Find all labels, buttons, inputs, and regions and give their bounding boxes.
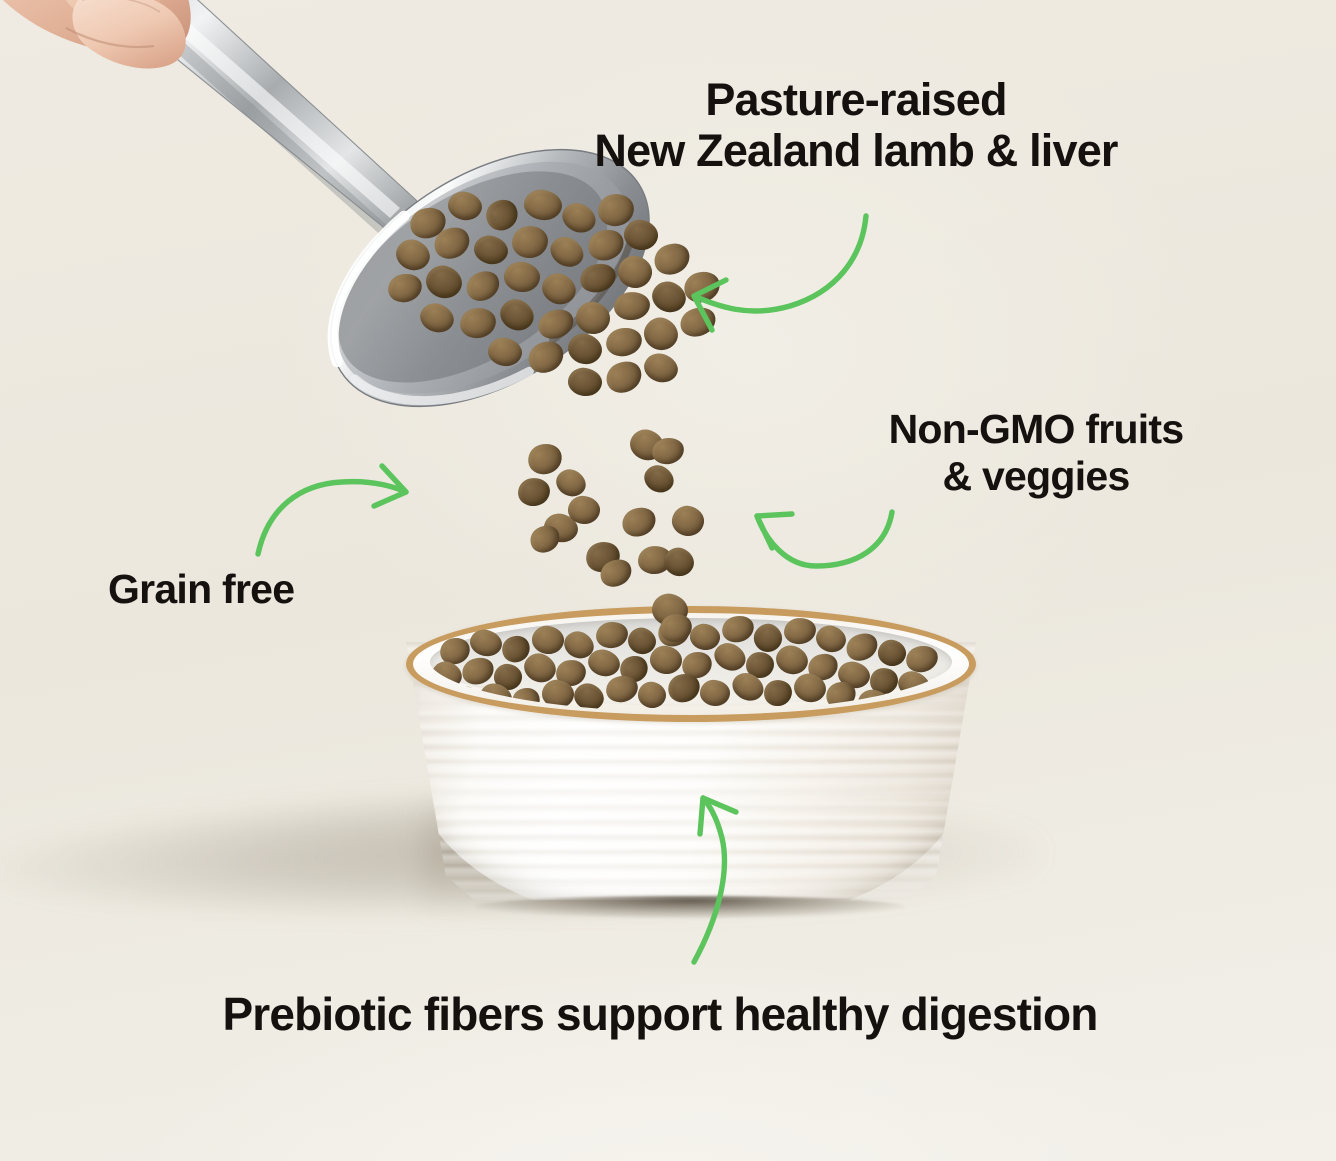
annotation-prebiotic-fibers: Prebiotic fibers support healthy digesti…	[130, 988, 1190, 1040]
kibble-piece	[641, 349, 682, 386]
kibble-piece	[639, 312, 683, 355]
kibble-piece	[615, 253, 655, 291]
thumb	[72, 0, 185, 69]
kibble-piece	[584, 225, 628, 266]
kibble-piece	[601, 356, 647, 399]
kibble-piece	[680, 267, 724, 307]
kibble-piece	[422, 261, 466, 303]
kibble-piece	[385, 270, 425, 305]
kibble-piece	[392, 235, 435, 276]
kibble-piece	[842, 628, 882, 665]
kibble-piece	[762, 677, 795, 708]
kibble-piece	[699, 679, 732, 708]
kibble-piece	[613, 290, 652, 322]
kibble-piece	[577, 260, 619, 297]
human-hand	[0, 0, 252, 144]
kibble-piece	[566, 366, 604, 398]
kibble-piece	[445, 189, 484, 223]
kibble-piece	[471, 232, 511, 267]
kibble-piece	[573, 298, 614, 337]
kibble-piece	[537, 268, 580, 309]
kibble-piece	[503, 260, 542, 294]
kibble-piece	[416, 299, 458, 337]
infographic-canvas: Pasture-raised New Zealand lamb & liver …	[0, 0, 1336, 1161]
annotation-non-gmo: Non-GMO fruits & veggies	[806, 406, 1266, 499]
kibble-piece	[636, 679, 669, 710]
kibble-piece	[558, 198, 601, 238]
kibble-piece	[719, 612, 757, 646]
kibble-piece	[458, 305, 499, 341]
kibble-piece	[467, 627, 504, 660]
annotation-grain-free: Grain free	[108, 566, 398, 613]
kibble-piece	[495, 294, 539, 336]
kibble-piece	[649, 238, 694, 280]
kibble-piece	[622, 217, 661, 252]
kibble-in-bowl	[428, 604, 954, 712]
kibble-piece	[676, 303, 719, 342]
bowl-base-shadow	[474, 896, 906, 918]
kibble-piece	[813, 622, 850, 656]
kibble-piece	[545, 231, 588, 272]
kibble-piece	[523, 335, 569, 378]
kibble-piece	[510, 224, 550, 261]
annotation-pasture-raised: Pasture-raised New Zealand lamb & liver	[506, 74, 1206, 177]
kibble-piece	[782, 616, 817, 646]
ceramic-dog-bowl	[382, 596, 982, 936]
kibble-piece	[486, 335, 524, 368]
kibble-piece	[565, 330, 606, 368]
kibble-piece	[594, 619, 630, 650]
kibble-piece	[530, 624, 566, 656]
kibble-piece	[876, 637, 909, 668]
kibble-on-spoon	[336, 186, 736, 416]
kibble-piece	[522, 188, 564, 223]
kibble-piece	[461, 265, 504, 306]
kibble-piece	[603, 325, 644, 360]
